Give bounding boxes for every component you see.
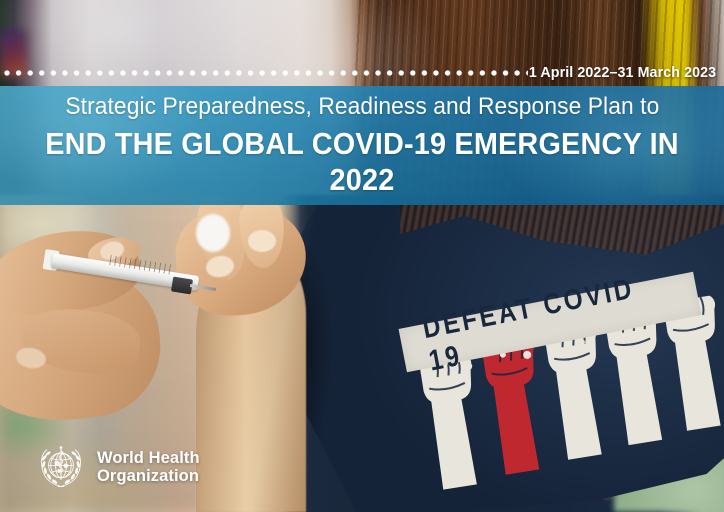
who-name-line2: Organization	[97, 467, 200, 485]
who-name-line1: World Health	[97, 449, 200, 467]
cotton-swab	[196, 214, 230, 252]
who-emblem-icon	[34, 440, 88, 494]
who-wordmark: World Health Organization	[97, 449, 200, 486]
main-title: END THE GLOBAL COVID-19 EMERGENCY IN 202…	[25, 126, 698, 198]
date-range-label: 1 April 2022–31 March 2023	[529, 64, 716, 81]
dotted-rule	[4, 70, 528, 78]
subtitle: Strategic Preparedness, Readiness and Re…	[65, 93, 659, 121]
poster-cover: DEFEAT COVID 19 1 April 2022–31 March 20…	[0, 0, 724, 512]
who-logo: World Health Organization	[34, 440, 200, 494]
title-block: Strategic Preparedness, Readiness and Re…	[0, 86, 724, 205]
fingernail	[248, 230, 276, 252]
